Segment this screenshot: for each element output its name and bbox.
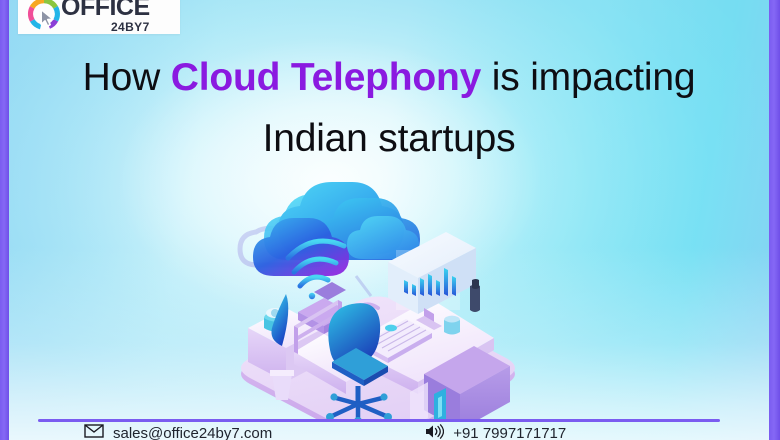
contact-email[interactable]: sales@office24by7.com <box>84 424 272 440</box>
phone-speaker-icon <box>424 424 444 440</box>
headline-suffix: is impacting <box>481 56 695 99</box>
isometric-cloud-telephony-office-illustration <box>228 168 558 420</box>
contact-phone[interactable]: +91 7997171717 <box>424 424 566 440</box>
office24by7-q-logo-icon <box>24 0 64 34</box>
right-purple-rail <box>769 0 780 440</box>
headline-line-2: Indian startups <box>9 113 769 165</box>
footer-contact-bar: sales@office24by7.com +91 7997171717 <box>9 424 769 440</box>
contact-email-text: sales@office24by7.com <box>113 426 272 440</box>
contact-phone-text: +91 7997171717 <box>453 426 566 440</box>
brand-suffix: 24BY7 <box>61 21 150 33</box>
brand-name: OFFICE <box>61 0 150 20</box>
headline-prefix: How <box>83 56 171 99</box>
brand-logo[interactable]: OFFICE 24BY7 <box>18 0 180 34</box>
left-purple-rail <box>0 0 9 440</box>
headline-line-1: How Cloud Telephony is impacting <box>9 52 769 104</box>
footer-divider <box>38 419 720 422</box>
brand-wordmark: OFFICE 24BY7 <box>61 0 150 33</box>
envelope-icon <box>84 424 104 440</box>
headline-accent: Cloud Telephony <box>171 56 481 99</box>
poster-canvas: OFFICE 24BY7 How Cloud Telephony is impa… <box>0 0 780 440</box>
